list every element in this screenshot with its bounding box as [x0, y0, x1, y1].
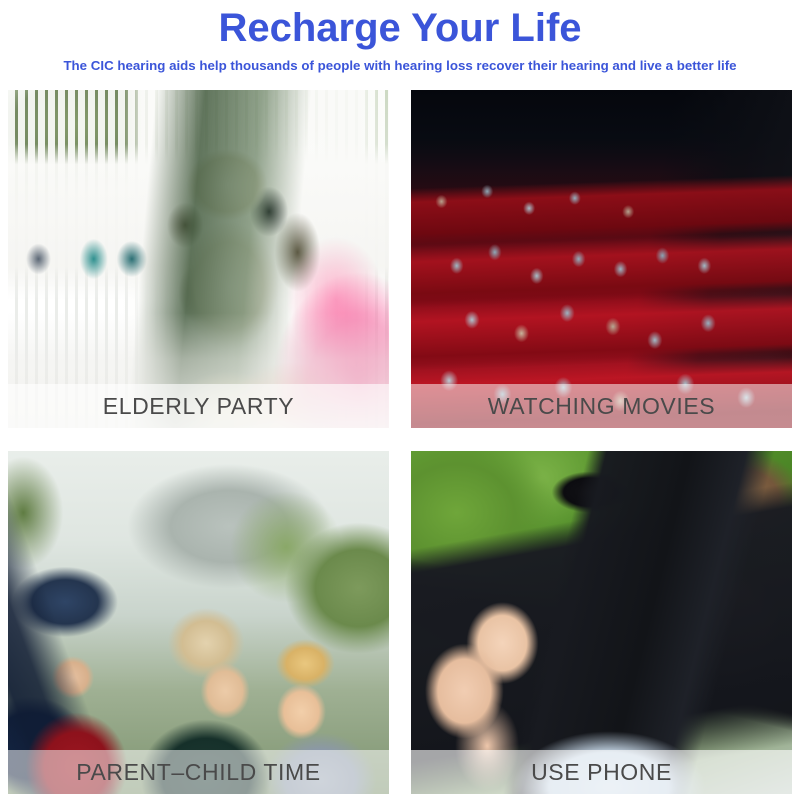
page-subtitle: The CIC hearing aids help thousands of p… [0, 57, 800, 74]
caption-band-elderly-party: ELDERLY PARTY [8, 384, 389, 428]
caption-band-watching-movies: WATCHING MOVIES [411, 384, 792, 428]
tile-watching-movies[interactable]: WATCHING MOVIES [411, 90, 792, 428]
tile-parent-child-time[interactable]: PARENT–CHILD TIME [8, 451, 389, 794]
photo-elderly-party [8, 90, 389, 428]
caption-band-use-phone: USE PHONE [411, 750, 792, 794]
page-header: Recharge Your Life The CIC hearing aids … [0, 0, 800, 74]
caption-band-parent-child-time: PARENT–CHILD TIME [8, 750, 389, 794]
photo-use-phone [411, 451, 792, 794]
photo-parent-child-time [8, 451, 389, 794]
tile-use-phone[interactable]: USE PHONE [411, 451, 792, 794]
photo-watching-movies [411, 90, 792, 428]
page-title: Recharge Your Life [0, 6, 800, 50]
caption-use-phone: USE PHONE [531, 759, 672, 785]
caption-parent-child-time: PARENT–CHILD TIME [76, 759, 321, 785]
caption-watching-movies: WATCHING MOVIES [488, 393, 716, 419]
photo-grid: ELDERLY PARTY WATCHING MOVIES PARENT–CHI… [8, 90, 792, 794]
caption-elderly-party: ELDERLY PARTY [103, 393, 294, 419]
promo-page: Recharge Your Life The CIC hearing aids … [0, 0, 800, 800]
tile-elderly-party[interactable]: ELDERLY PARTY [8, 90, 389, 428]
